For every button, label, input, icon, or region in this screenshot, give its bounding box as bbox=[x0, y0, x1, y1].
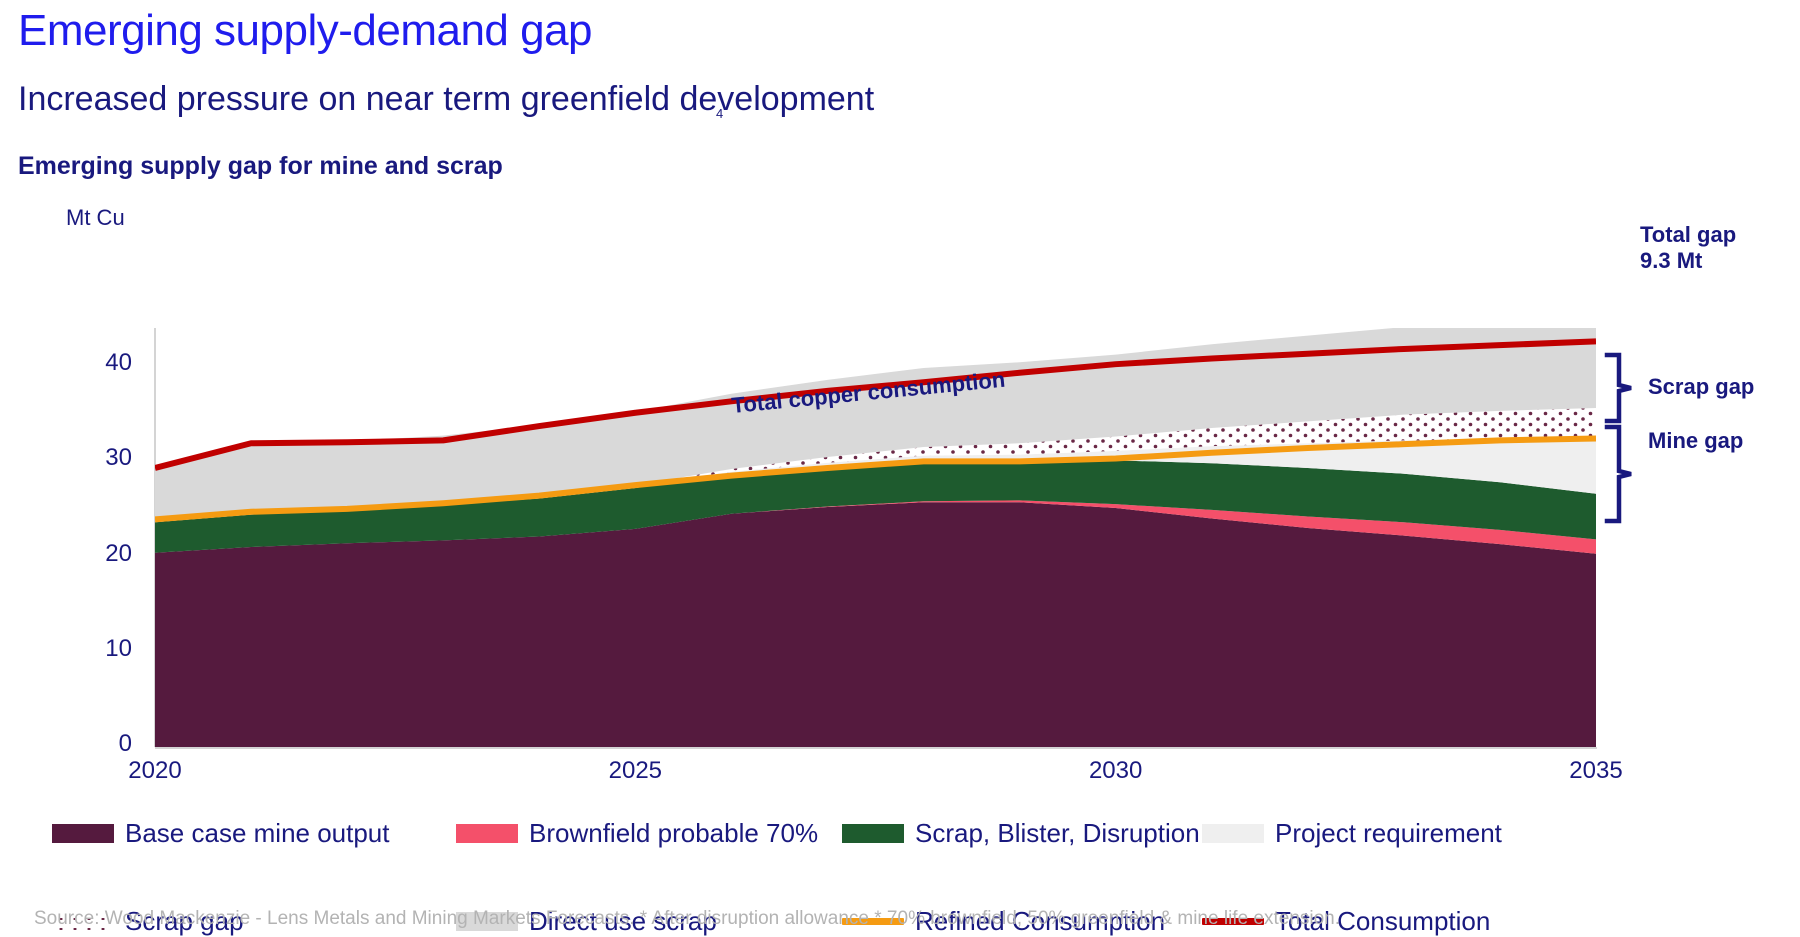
mine-gap-brace-icon bbox=[1603, 424, 1637, 524]
y-tick-30: 30 bbox=[62, 444, 132, 472]
scrap-gap-brace-icon bbox=[1603, 352, 1637, 424]
legend-label: Project requirement bbox=[1275, 818, 1502, 849]
legend-swatch-icon bbox=[52, 824, 114, 843]
x-tick-2025: 2025 bbox=[609, 757, 662, 785]
source-note: Source: Wood Mackenzie - Lens Metals and… bbox=[34, 908, 1340, 930]
x-tick-2035: 2035 bbox=[1569, 757, 1622, 785]
chart-legend: Base case mine outputBrownfield probable… bbox=[52, 818, 1752, 902]
x-axis-line bbox=[155, 747, 1597, 749]
legend-item-project-requirement[interactable]: Project requirement bbox=[1202, 818, 1502, 849]
slide: Emerging supply-demand gap Increased pre… bbox=[0, 0, 1800, 934]
scrap-gap-annotation: Scrap gap bbox=[1648, 374, 1754, 400]
page-title: Emerging supply-demand gap bbox=[18, 6, 592, 56]
page-subtitle: Increased pressure on near term greenfie… bbox=[18, 80, 874, 119]
legend-label: Base case mine output bbox=[125, 818, 390, 849]
chart: Mt Cu 010203040 2020202520302035 Total c… bbox=[0, 195, 1800, 795]
legend-item-base-case-mine-output[interactable]: Base case mine output bbox=[52, 818, 390, 849]
y-tick-20: 20 bbox=[62, 540, 132, 568]
total-gap-value: 9.3 Mt bbox=[1640, 248, 1736, 274]
legend-row-2: Scrap gapDirect use scrapRefined Consump… bbox=[52, 860, 1752, 902]
legend-swatch-icon bbox=[456, 824, 518, 843]
chart-title: Emerging supply gap for mine and scrap bbox=[18, 152, 503, 181]
x-tick-2020: 2020 bbox=[128, 757, 181, 785]
y-tick-40: 40 bbox=[62, 349, 132, 377]
legend-item-scrap-blister-disruption[interactable]: Scrap, Blister, Disruption bbox=[842, 818, 1200, 849]
legend-swatch-icon bbox=[842, 824, 904, 843]
legend-item-brownfield-probable-70[interactable]: Brownfield probable 70% bbox=[456, 818, 818, 849]
total-gap-label: Total gap bbox=[1640, 222, 1736, 248]
mine-gap-annotation: Mine gap bbox=[1648, 428, 1743, 454]
legend-label: Brownfield probable 70% bbox=[529, 818, 818, 849]
legend-swatch-icon bbox=[1202, 824, 1264, 843]
legend-label: Scrap, Blister, Disruption bbox=[915, 818, 1200, 849]
total-gap-annotation: Total gap 9.3 Mt bbox=[1640, 222, 1736, 274]
y-axis-unit-label: Mt Cu bbox=[66, 205, 125, 231]
y-tick-0: 0 bbox=[62, 730, 132, 758]
x-tick-2030: 2030 bbox=[1089, 757, 1142, 785]
legend-row-1: Base case mine outputBrownfield probable… bbox=[52, 818, 1752, 860]
y-tick-10: 10 bbox=[62, 635, 132, 663]
slide-number: 4 bbox=[716, 106, 723, 121]
